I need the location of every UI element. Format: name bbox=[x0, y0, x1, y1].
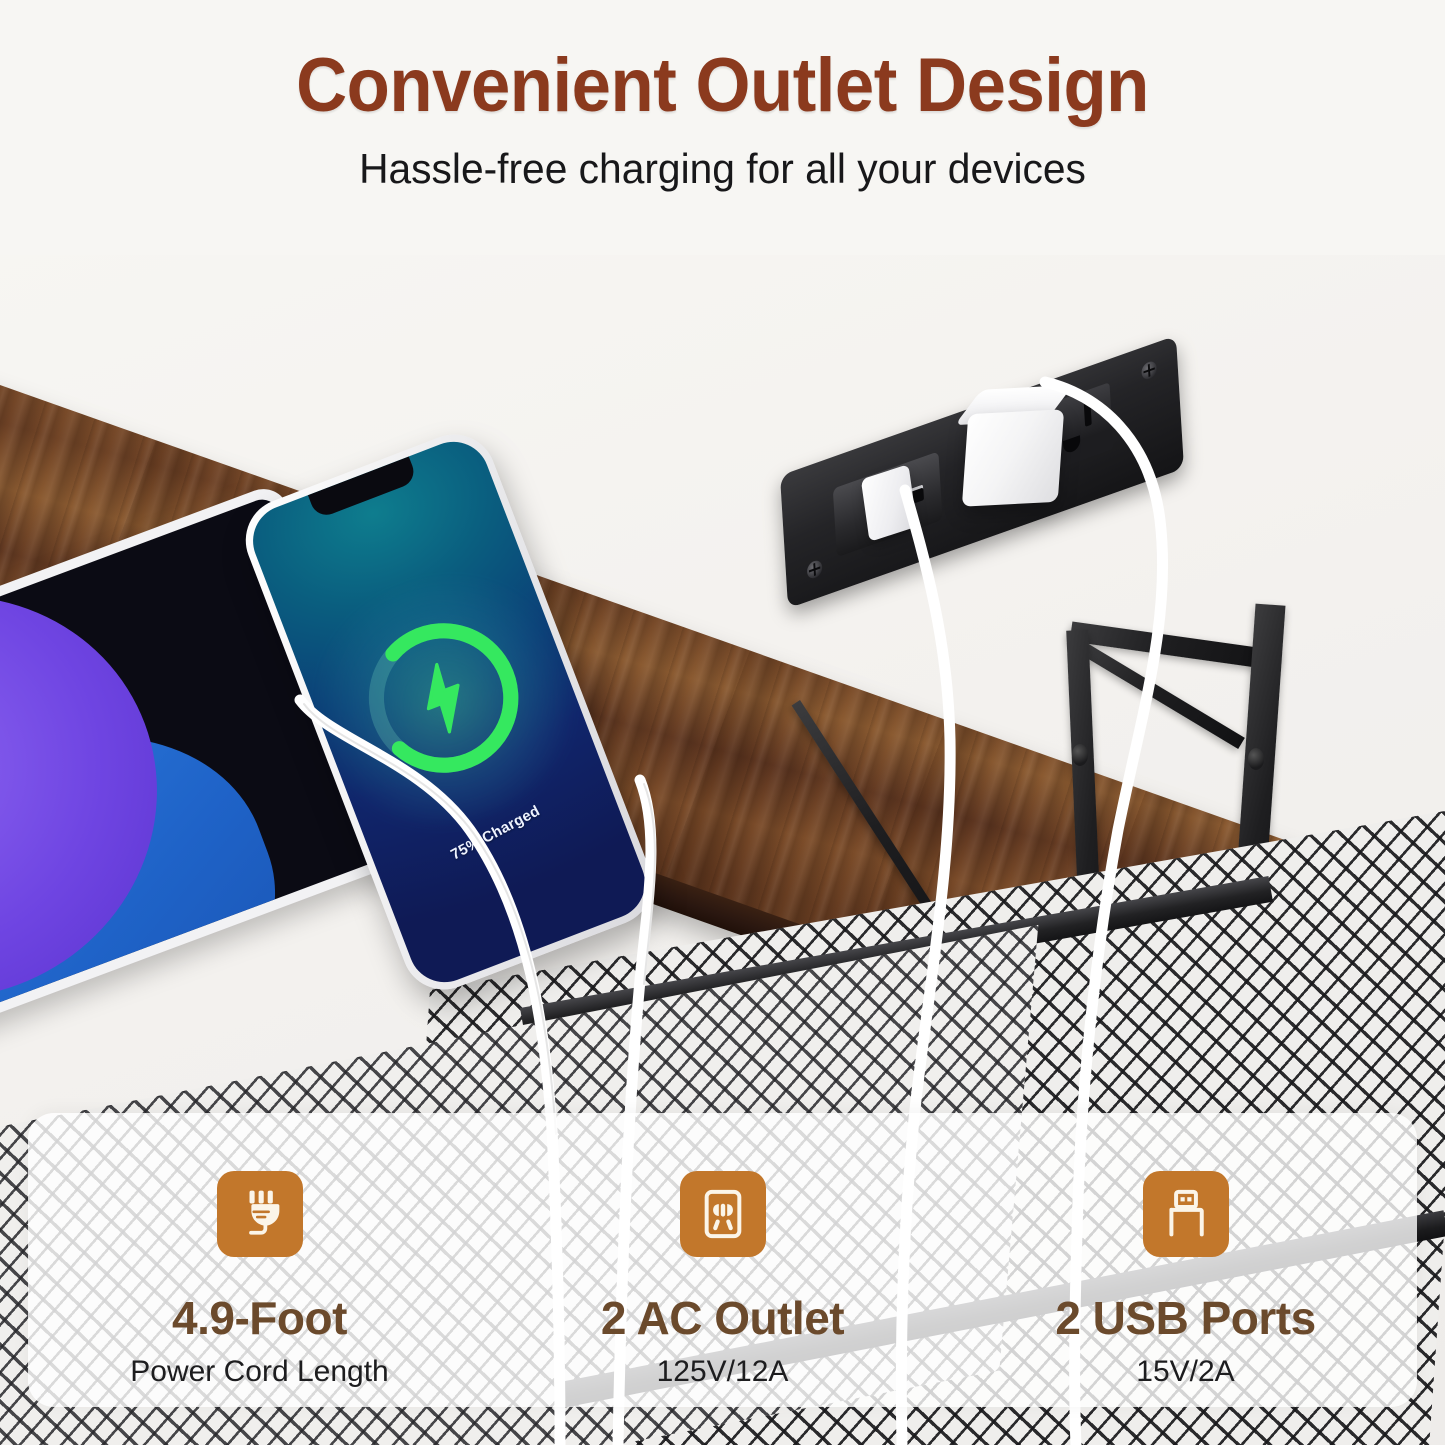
page-title: Convenient Outlet Design bbox=[51, 0, 1395, 124]
header-block: Convenient Outlet Design Hassle-free cha… bbox=[0, 0, 1445, 255]
feature-highlights-panel: 4.9-Foot Power Cord Length 2 AC Outlet 1… bbox=[28, 1113, 1417, 1407]
feature-title: 2 USB Ports bbox=[1055, 1291, 1315, 1345]
ac-outlet-icon bbox=[680, 1171, 766, 1257]
usb-port-icon bbox=[1143, 1171, 1229, 1257]
feature-subtitle: 125V/12A bbox=[657, 1355, 789, 1389]
power-plug-icon bbox=[217, 1171, 303, 1257]
feature-item-usb-ports: 2 USB Ports 15V/2A bbox=[954, 1113, 1417, 1407]
page-subtitle: Hassle-free charging for all your device… bbox=[22, 124, 1424, 192]
feature-subtitle: Power Cord Length bbox=[130, 1355, 389, 1389]
feature-item-ac-outlet: 2 AC Outlet 125V/12A bbox=[491, 1113, 954, 1407]
product-feature-image: 75% Charged bbox=[0, 0, 1445, 1445]
feature-title: 4.9-Foot bbox=[172, 1291, 347, 1345]
feature-title: 2 AC Outlet bbox=[601, 1291, 844, 1345]
feature-item-power-cord: 4.9-Foot Power Cord Length bbox=[28, 1113, 491, 1407]
feature-subtitle: 15V/2A bbox=[1136, 1355, 1234, 1389]
